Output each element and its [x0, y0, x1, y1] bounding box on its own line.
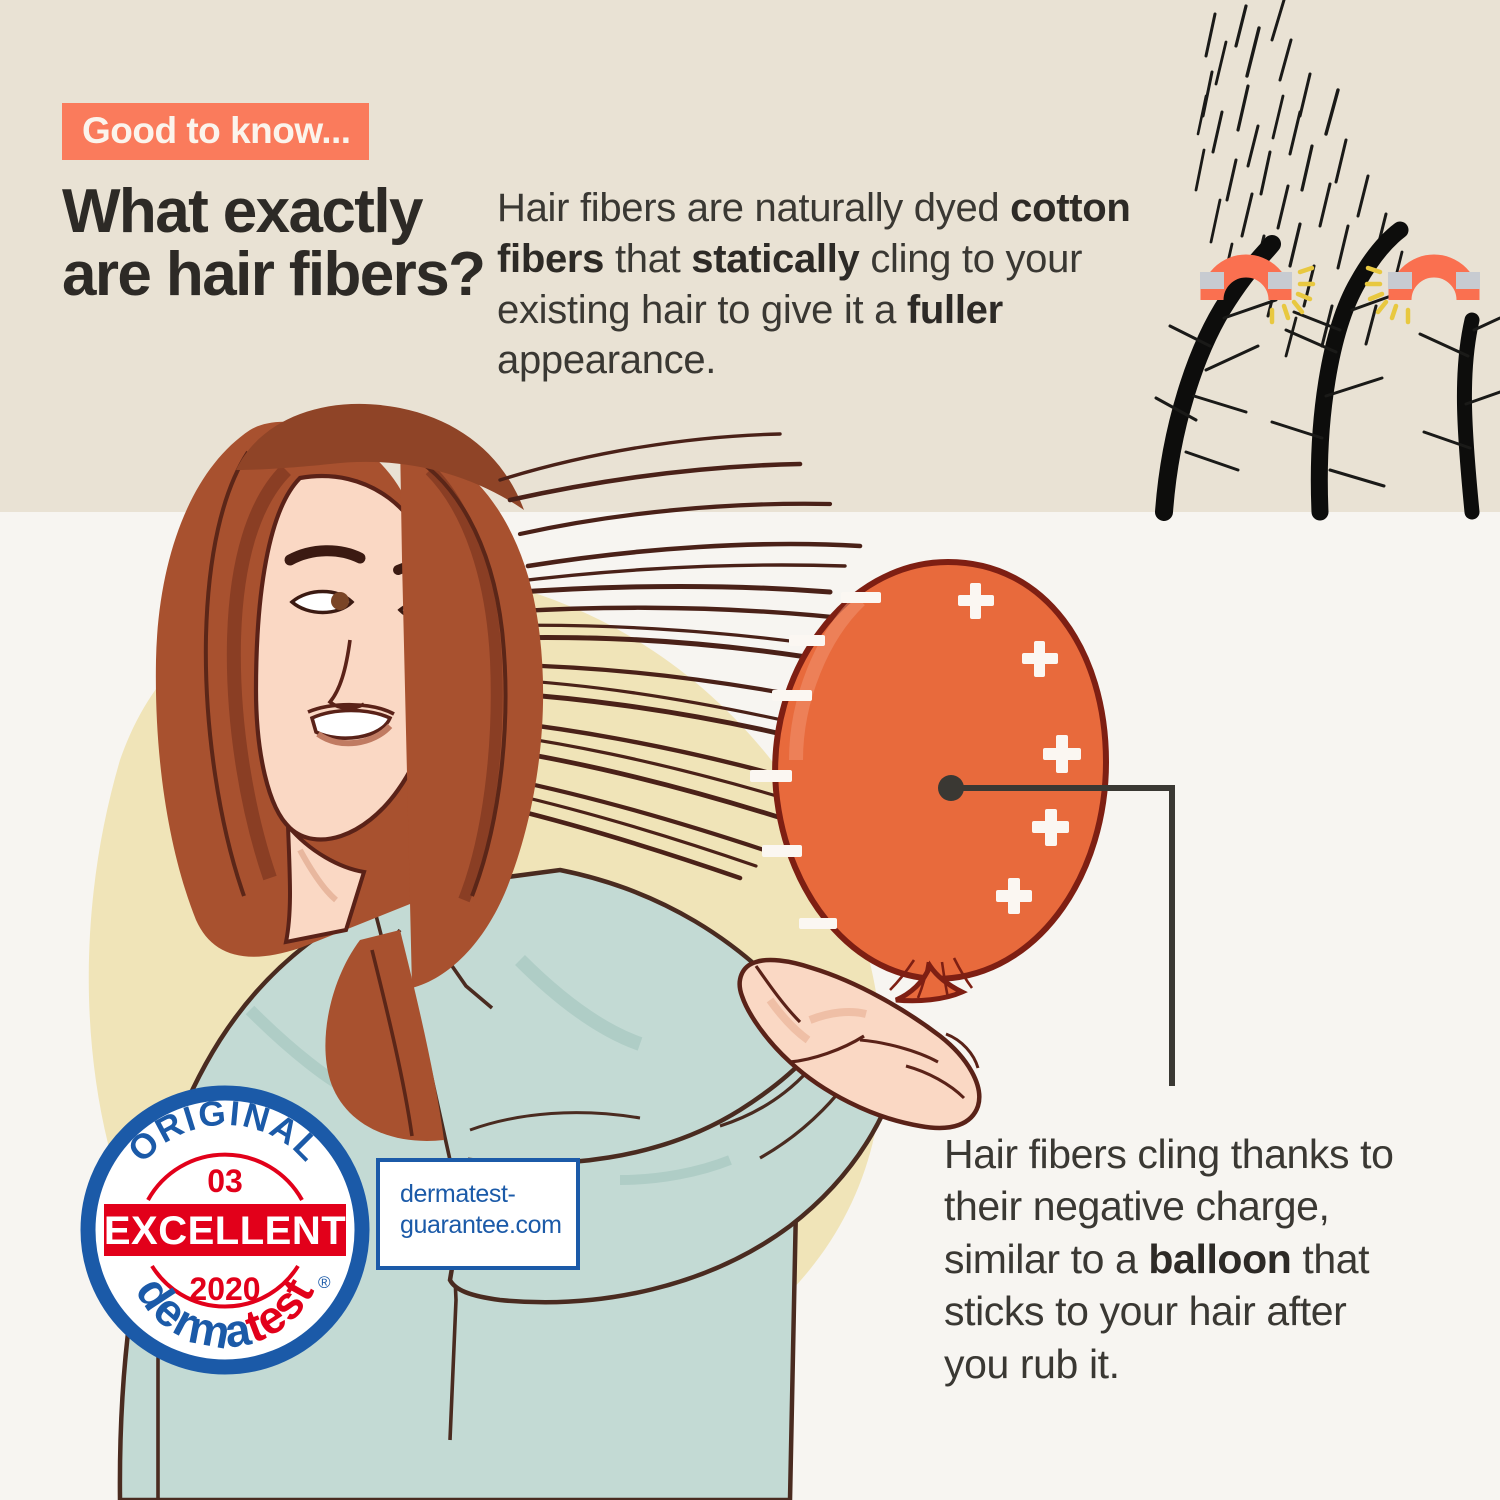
dermatest-seal[interactable]: ORIGINAL 03 EXCELLENT 2020 dermatest ® [0, 0, 1500, 1500]
seal-number: 03 [207, 1163, 243, 1199]
dermatest-url-text: dermatest-guarantee.com [400, 1179, 572, 1240]
seal-registered-mark: ® [318, 1273, 331, 1292]
infographic-canvas: Good to know... What exactly are hair fi… [0, 0, 1500, 1500]
seal-band-text: EXCELLENT [104, 1209, 346, 1253]
dermatest-url-box[interactable]: dermatest-guarantee.com [376, 1158, 580, 1270]
